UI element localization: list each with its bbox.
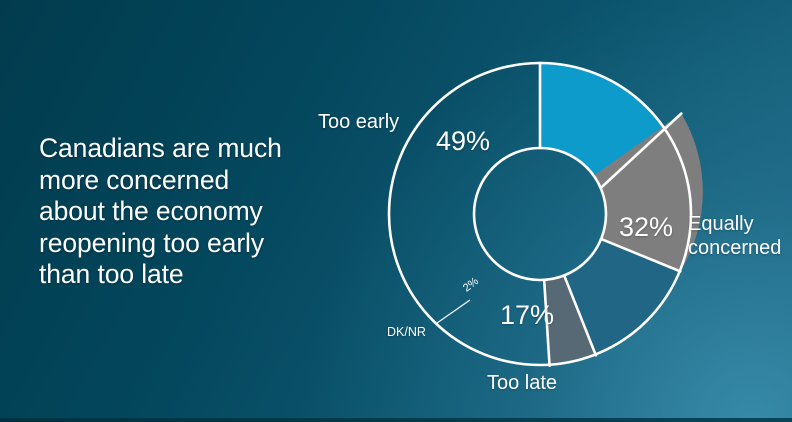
slice-value-too-late: 17% bbox=[500, 300, 554, 331]
bottom-edge-strip bbox=[0, 418, 792, 422]
slice-label-too-early: Too early bbox=[318, 110, 399, 134]
slide-canvas: Canadians are much more concerned about … bbox=[0, 0, 792, 422]
donut-chart-svg bbox=[0, 0, 792, 422]
donut-chart: 49% 32% 17% 2% Too early Equally concern… bbox=[0, 0, 792, 422]
slice-label-equally-concerned: Equally concerned bbox=[688, 212, 792, 260]
slice-label-dk-nr: DK/NR bbox=[387, 325, 426, 340]
dk-nr-leader-line bbox=[437, 300, 470, 323]
slice-label-too-late: Too late bbox=[487, 371, 557, 395]
slice-value-equally-concerned: 32% bbox=[619, 212, 673, 243]
slice-value-too-early: 49% bbox=[436, 126, 490, 157]
